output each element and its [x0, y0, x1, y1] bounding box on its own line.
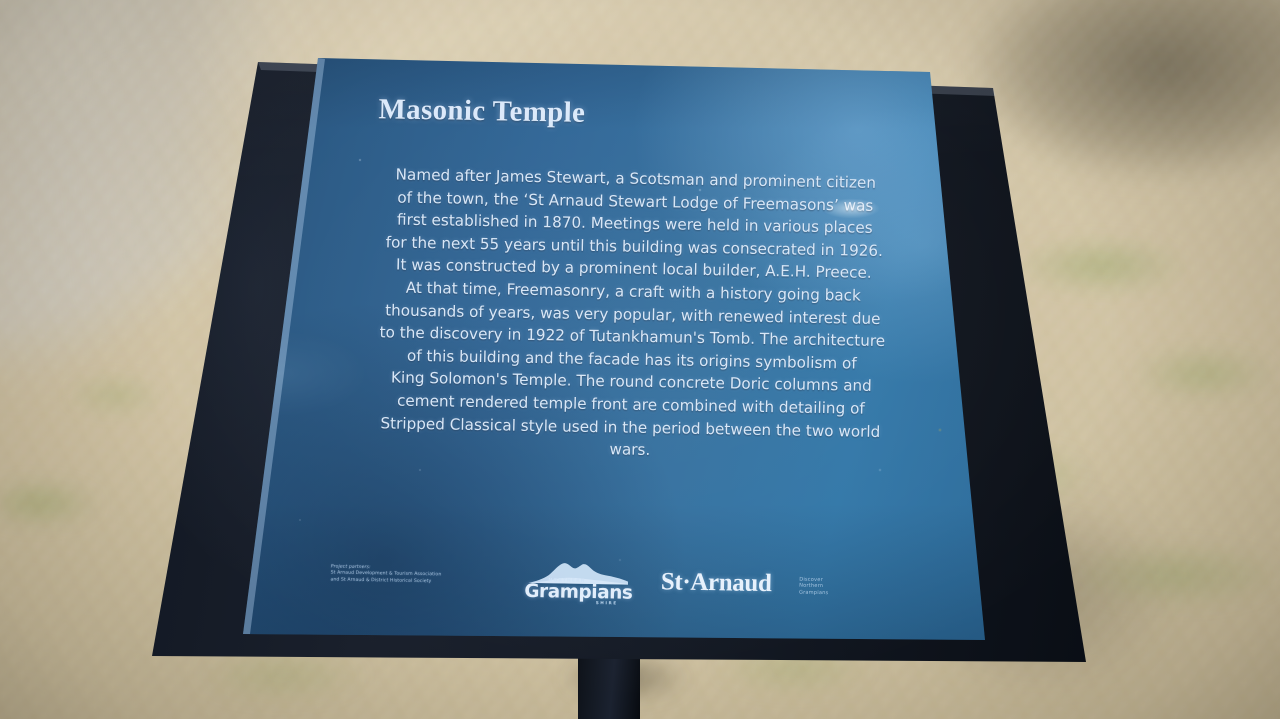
st-arnaud-tagline: Discover Northern Grampians [799, 577, 829, 597]
grampians-suffix: SHIRE [596, 600, 618, 605]
st-arnaud-logo: St·Arnaud Discover Northern Grampians [660, 568, 860, 605]
plaque-body: Named after James Stewart, a Scotsman an… [331, 163, 934, 467]
northern-grampians-shire-logo: NORTHERN Grampians SHIRE [518, 558, 636, 606]
project-partners-text: Project partners: St Arnaud Development … [330, 564, 500, 586]
plaque-title: Masonic Temple [378, 93, 585, 130]
plaque-content: Masonic Temple Named after James Stewart… [295, 44, 1004, 656]
plaque-footer: Project partners: St Arnaud Development … [314, 552, 952, 633]
sign-assembly: Masonic Temple Named after James Stewart… [0, 0, 1280, 719]
photo-scene: Masonic Temple Named after James Stewart… [0, 0, 1280, 719]
st-arnaud-tagline-line-3: Grampians [799, 589, 829, 596]
st-arnaud-wordmark: St·Arnaud [661, 568, 772, 598]
